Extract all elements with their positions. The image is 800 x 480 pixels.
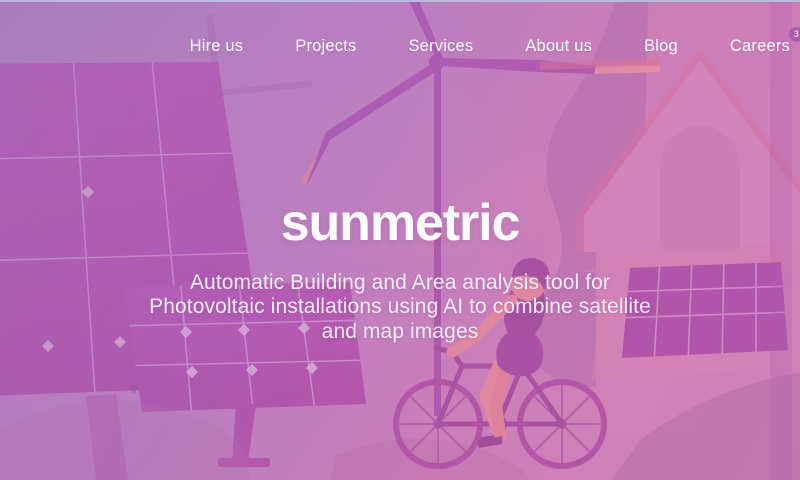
nav-item-about-us[interactable]: About us	[525, 37, 592, 56]
hero-tagline-line: Automatic Building and Area analysis too…	[0, 271, 800, 296]
nav-label: Projects	[295, 37, 356, 55]
top-rule	[0, 0, 800, 2]
hero-banner: Hire us Projects Services About us Blog …	[0, 0, 800, 480]
hero-copy: sunmetric Automatic Building and Area an…	[0, 196, 800, 345]
nav-label: Blog	[644, 37, 678, 55]
hero-tagline-line: and map images	[0, 320, 800, 345]
careers-count-badge: 3	[789, 27, 800, 42]
nav-item-careers[interactable]: Careers 3	[730, 37, 790, 56]
main-navigation: Hire us Projects Services About us Blog …	[0, 0, 800, 92]
nav-label: Hire us	[190, 37, 244, 55]
nav-label: About us	[525, 37, 592, 55]
brand-title: sunmetric	[0, 196, 800, 251]
nav-item-blog[interactable]: Blog	[644, 37, 678, 56]
nav-item-hire-us[interactable]: Hire us	[190, 37, 244, 56]
nav-label: Careers	[730, 37, 790, 55]
hero-tagline: Automatic Building and Area analysis too…	[0, 271, 800, 345]
nav-item-services[interactable]: Services	[408, 37, 473, 56]
hero-tagline-line: Photovoltaic installations using AI to c…	[0, 295, 800, 320]
nav-item-projects[interactable]: Projects	[295, 37, 356, 56]
nav-label: Services	[408, 37, 473, 55]
